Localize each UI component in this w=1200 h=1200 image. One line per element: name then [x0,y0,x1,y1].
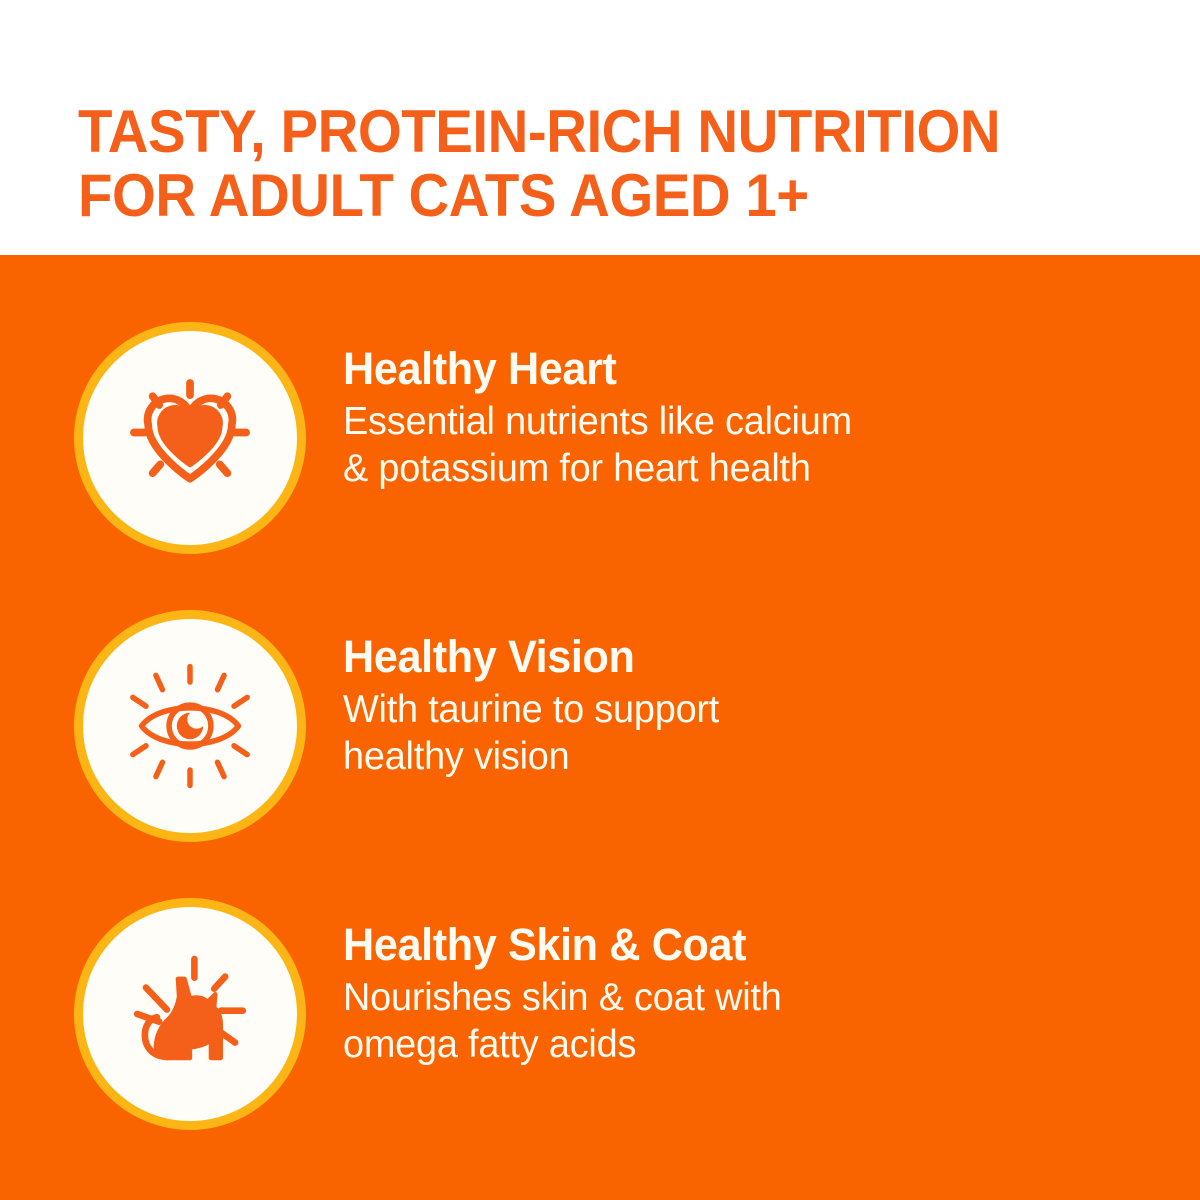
radiant-cat-icon [83,907,297,1121]
icon-badge [74,898,306,1130]
radiant-eye-icon [83,619,297,833]
feature-text-block: Healthy Heart Essential nutrients like c… [343,322,1133,492]
feature-description: Nourishes skin & coat with omega fatty a… [343,974,1109,1068]
feature-text-block: Healthy Vision With taurine to support h… [343,610,1133,780]
feature-title: Healthy Skin & Coat [343,920,1101,970]
radiant-heart-icon [83,331,297,545]
feature-description: With taurine to support healthy vision [343,686,1109,780]
header-band: TASTY, PROTEIN-RICH NUTRITION FOR ADULT … [0,0,1200,255]
icon-badge [74,610,306,842]
feature-text-block: Healthy Skin & Coat Nourishes skin & coa… [343,898,1133,1068]
feature-title: Healthy Heart [343,344,1101,394]
icon-badge [74,322,306,554]
page-title: TASTY, PROTEIN-RICH NUTRITION FOR ADULT … [78,100,1074,228]
benefits-panel: Healthy Heart Essential nutrients like c… [0,255,1200,1200]
feature-row-healthy-vision: Healthy Vision With taurine to support h… [0,610,1200,842]
feature-title: Healthy Vision [343,632,1101,682]
feature-row-healthy-heart: Healthy Heart Essential nutrients like c… [0,322,1200,554]
feature-description: Essential nutrients like calcium & potas… [343,398,1109,492]
product-benefits-poster: TASTY, PROTEIN-RICH NUTRITION FOR ADULT … [0,0,1200,1200]
feature-row-healthy-skin-and-coat: Healthy Skin & Coat Nourishes skin & coa… [0,898,1200,1130]
